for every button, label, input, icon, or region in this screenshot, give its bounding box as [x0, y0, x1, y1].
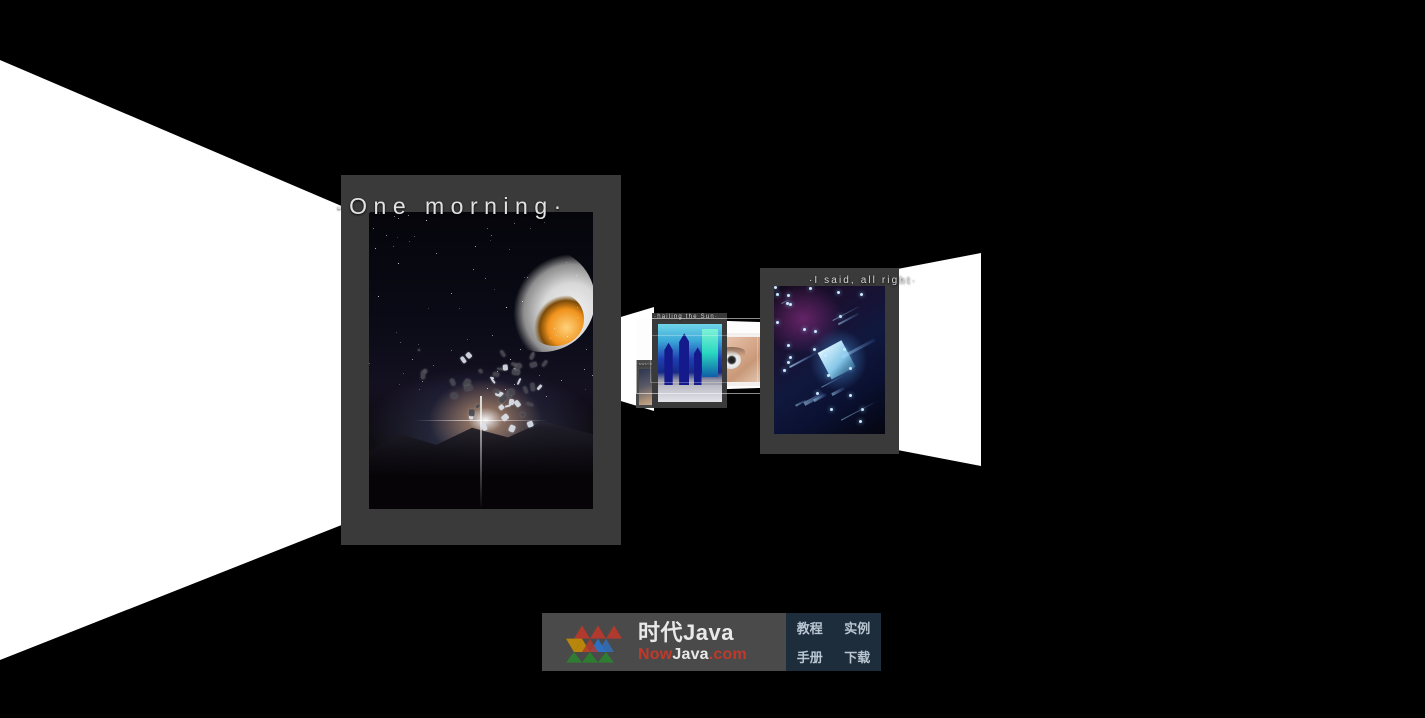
domain-mid: Java	[672, 646, 708, 663]
slide-caption-main: ·One morning·	[335, 193, 568, 220]
carousel-slide-right[interactable]: ·I said, all right·	[760, 268, 899, 454]
slide-photo-right	[774, 286, 885, 434]
mid-frame-outline-inner	[650, 335, 758, 383]
nowjava-banner[interactable]: 时代Java NowJava.com 教程 实例 手册 下载	[542, 613, 881, 671]
carousel-slide-main[interactable]: ·One morning·	[341, 175, 621, 545]
banner-links[interactable]: 教程 实例 手册 下载	[786, 613, 881, 671]
banner-link-examples[interactable]: 实例	[844, 618, 870, 637]
banner-link-download[interactable]: 下载	[844, 647, 870, 666]
slide-photo-main	[369, 212, 593, 509]
banner-brand-area[interactable]: 时代Java NowJava.com	[542, 613, 786, 671]
triangle-grid-logo	[566, 621, 630, 663]
banner-link-manual[interactable]: 手册	[797, 647, 823, 666]
carousel-stage: ·swirling· ·hailing the Sun·	[0, 0, 1425, 718]
domain-suffix: .com	[709, 646, 747, 663]
brand-cn: 时代	[638, 620, 683, 645]
slide-caption-right: ·I said, all right·	[809, 275, 917, 286]
banner-link-tutorials[interactable]: 教程	[797, 618, 823, 637]
left-perspective-wall	[0, 60, 372, 660]
domain-prefix: Now	[638, 646, 672, 663]
brand-en: Java	[683, 620, 734, 645]
banner-brand-text: 时代Java NowJava.com	[638, 622, 747, 663]
